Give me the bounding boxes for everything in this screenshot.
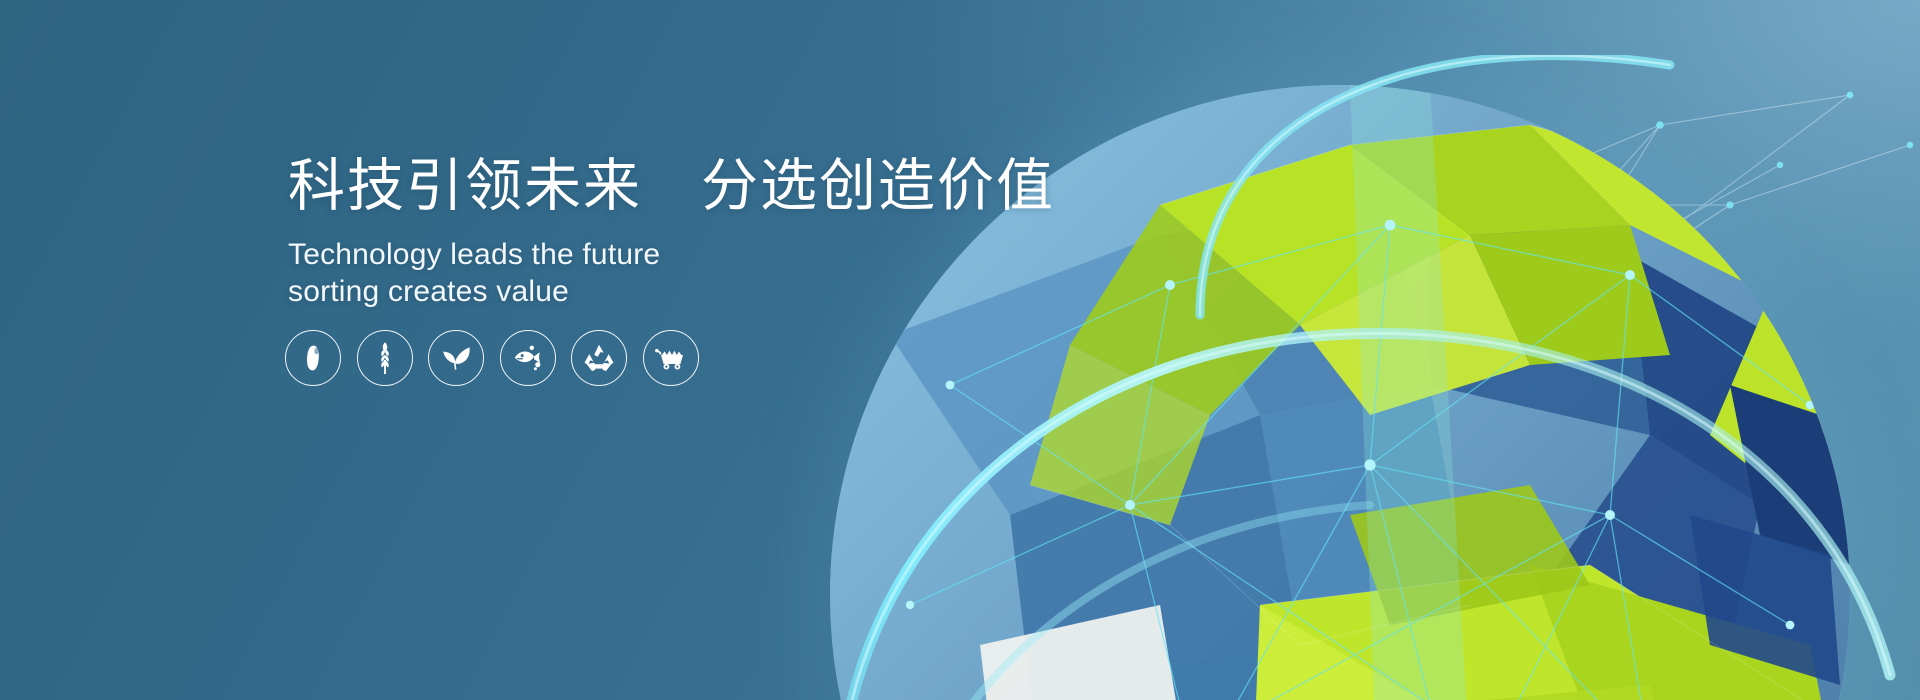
wheat-icon — [370, 341, 400, 375]
rice-grain-icon — [300, 343, 326, 373]
subtitle-line-2: sorting creates value — [288, 273, 1008, 310]
fish-icon — [511, 345, 545, 371]
tea-leaf-icon — [440, 345, 472, 371]
icon-button-rice-grain[interactable] — [285, 330, 341, 386]
page-title: 科技引领未来 分选创造价值 — [288, 155, 1008, 219]
ore-cart-icon — [654, 345, 688, 371]
hero-subtitle: Technology leads the future sorting crea… — [288, 236, 1008, 310]
orbital-ring-icon — [770, 55, 1920, 700]
recycle-icon — [584, 343, 614, 373]
hero-banner: 科技引领未来 分选创造价值 Technology leads the futur… — [0, 0, 1920, 700]
icon-button-fish[interactable] — [500, 330, 556, 386]
icon-button-wheat[interactable] — [357, 330, 413, 386]
icon-button-tea-leaf[interactable] — [428, 330, 484, 386]
icon-button-ore-cart[interactable] — [643, 330, 699, 386]
icon-button-recycle[interactable] — [571, 330, 627, 386]
globe-graphic — [770, 55, 1920, 700]
hero-copy: 科技引领未来 分选创造价值 Technology leads the futur… — [288, 155, 1008, 310]
industry-icon-row — [285, 330, 699, 386]
subtitle-line-1: Technology leads the future — [288, 236, 1008, 273]
